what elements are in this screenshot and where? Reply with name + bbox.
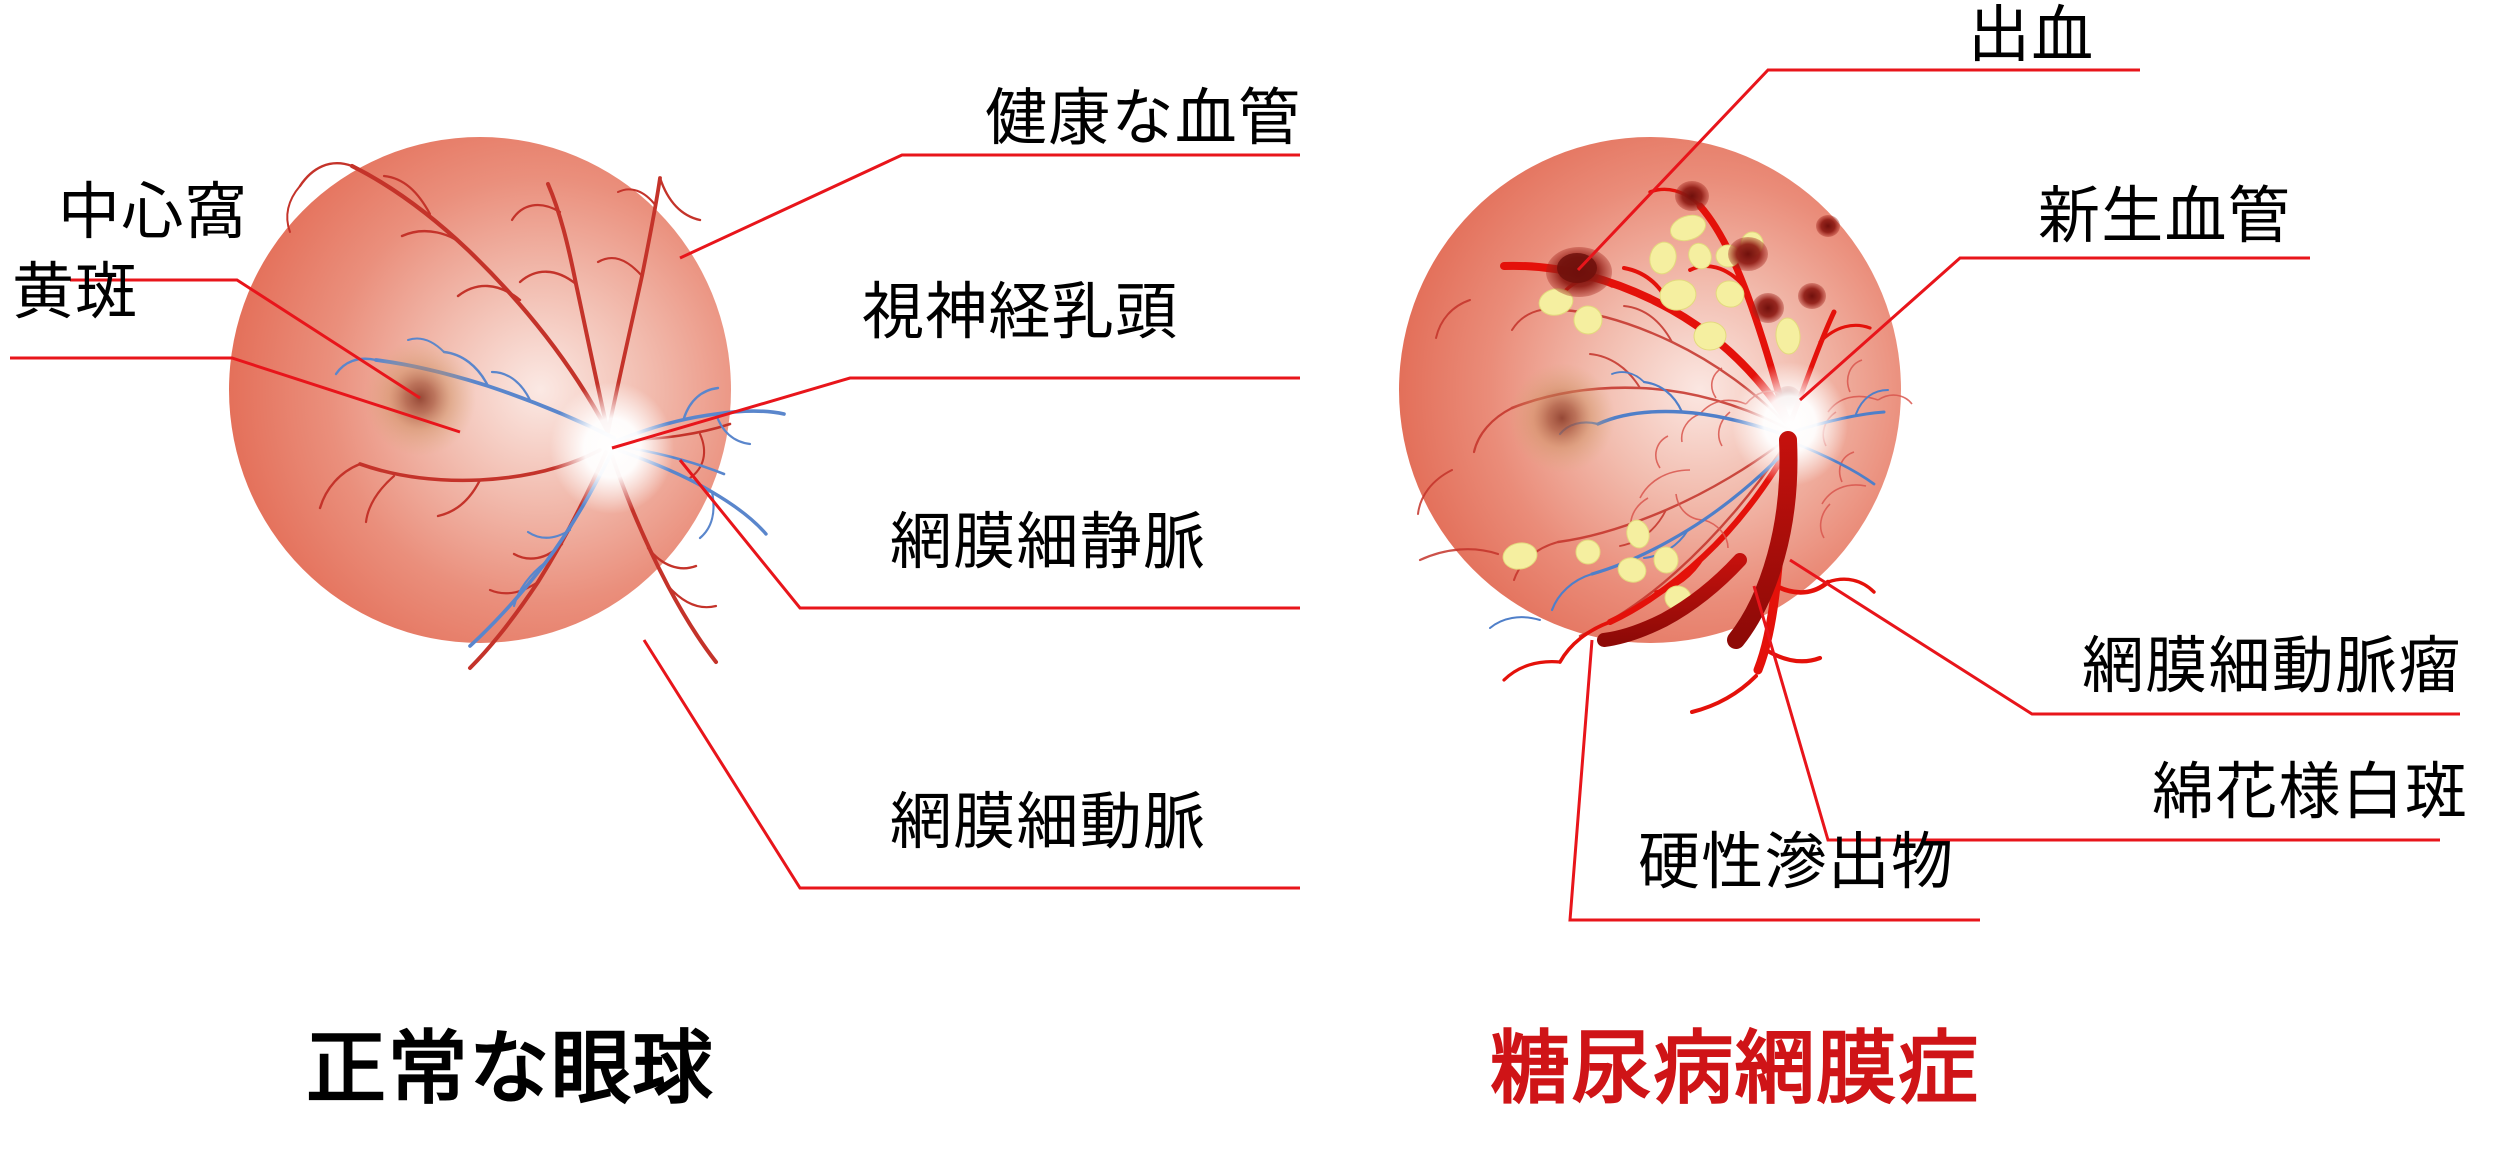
leader-optic-disc bbox=[612, 378, 1300, 448]
label-hard-exudate: 硬性滲出物 bbox=[1638, 832, 1954, 894]
leader-lines bbox=[0, 0, 2500, 1158]
leader-neovascular bbox=[1800, 258, 2310, 400]
label-healthy-vessel: 健康な血管 bbox=[985, 88, 1301, 150]
label-neovascular: 新生血管 bbox=[2038, 186, 2291, 248]
label-venule: 網膜細静脈 bbox=[890, 512, 1206, 574]
label-macula: 黄斑 bbox=[12, 262, 138, 324]
leader-macula bbox=[10, 358, 460, 432]
label-hemorrhage: 出血 bbox=[1968, 5, 2094, 67]
label-microaneurysm: 網膜細動脈瘤 bbox=[2082, 636, 2461, 698]
caption-diabetic-retinopathy: 糖尿病網膜症 bbox=[1490, 1030, 1980, 1110]
diagram-canvas: 中心窩 黄斑 健康な血管 視神経乳頭 網膜細静脈 網膜細動脈 出血 新生血管 網… bbox=[0, 0, 2500, 1158]
label-cotton-wool: 綿花様白斑 bbox=[2152, 762, 2468, 824]
label-optic-disc: 視神経乳頭 bbox=[862, 282, 1178, 344]
label-fovea: 中心窩 bbox=[58, 182, 248, 244]
label-arteriole: 網膜細動脈 bbox=[890, 792, 1206, 854]
leader-healthy-vessel bbox=[680, 155, 1300, 258]
caption-normal-eye: 正常な眼球 bbox=[306, 1030, 714, 1110]
